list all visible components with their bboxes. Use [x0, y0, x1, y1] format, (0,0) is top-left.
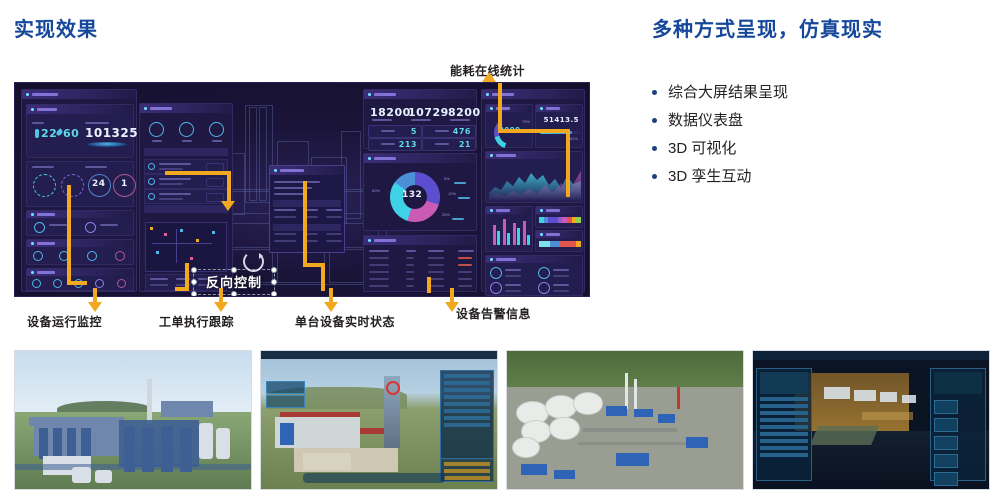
- resize-handle-n[interactable]: [231, 267, 237, 273]
- hud-dock-bar[interactable]: [303, 473, 445, 483]
- panel-title-bar: [140, 104, 232, 113]
- callout-arrow-head-3: [324, 302, 338, 312]
- list-item-label: 数据仪表盘: [668, 113, 743, 128]
- list-item-label: 综合大屏结果呈现: [668, 85, 788, 100]
- connector-v-1: [227, 171, 231, 203]
- section-header: [144, 205, 228, 213]
- panel-total-energy: 51413.5 81%: [535, 104, 583, 148]
- connector-h-5: [498, 129, 570, 133]
- donut-slice-label-1: 5%: [444, 176, 450, 181]
- hud-panel-right-bottom: [440, 458, 494, 482]
- resize-handle-s[interactable]: [231, 291, 237, 297]
- list-item: 综合大屏结果呈现: [652, 78, 992, 106]
- panel-title-bar: [22, 90, 136, 99]
- thermometer-icon: [35, 129, 39, 138]
- resize-handle-sw[interactable]: [191, 291, 197, 297]
- panel-title-bar: [364, 236, 476, 245]
- callout-label-2: 工单执行跟踪: [159, 313, 234, 330]
- callout-label-3: 单台设备实时状态: [295, 313, 395, 330]
- hud-panel-right: [440, 370, 494, 458]
- metric-humidity: 60: [63, 127, 79, 140]
- bullet-dot-icon: [652, 90, 657, 95]
- metric-pressure: 101325: [85, 126, 138, 140]
- connector-v-6: [427, 277, 431, 293]
- selected-text-box[interactable]: 反向控制: [193, 269, 275, 295]
- feature-list: 综合大屏结果呈现 数据仪表盘 3D 可视化 3D 孪生互动: [652, 78, 992, 190]
- callout-arrow-head-2: [214, 302, 228, 312]
- heatmap-strip: [539, 217, 581, 223]
- list-item-label: 3D 孪生互动: [668, 169, 751, 184]
- resize-handle-ne[interactable]: [271, 267, 277, 273]
- slide-root: 实现效果 多种方式呈现，仿真现实 综合大屏结果呈现 数据仪表盘 3D 可视化 3…: [0, 0, 1000, 498]
- gauge-percent-left: 75%: [522, 119, 530, 124]
- list-item[interactable]: [144, 189, 228, 204]
- panel-title-bar: [486, 207, 532, 214]
- panel-safety-devices: [26, 239, 134, 265]
- resize-handle-nw[interactable]: [191, 267, 197, 273]
- panel-title-bar: [364, 90, 476, 99]
- donut-center-value: 132: [402, 190, 422, 200]
- metric-temperature: 22: [41, 127, 57, 140]
- connector-v-2: [67, 185, 71, 285]
- metric-count-b: 1: [121, 179, 128, 189]
- heatmap-strip: [539, 241, 581, 247]
- panel-title-bar: [536, 105, 582, 112]
- panel-bar-chart: [485, 206, 533, 252]
- panel-title-bar: [536, 207, 582, 214]
- card-icon-b[interactable]: [179, 122, 194, 137]
- connector-v-4: [303, 181, 307, 267]
- gallery-image-refinery-aerial[interactable]: [506, 350, 744, 490]
- panel-gauge: 3000 75%: [485, 104, 533, 148]
- panel-alarm-table: [363, 235, 477, 292]
- panel-env-devices: [26, 210, 134, 236]
- list-item-label: 3D 可视化: [668, 141, 736, 156]
- panel-title-bar: [27, 240, 133, 247]
- panel-title-bar: [536, 231, 582, 238]
- sub-stat-2: 476: [422, 125, 476, 138]
- panel-title-bar: [364, 154, 476, 163]
- total-energy-value: 51413.5: [544, 116, 579, 124]
- panel-device-detail: [269, 165, 345, 253]
- gallery-image-digital-twin-hud[interactable]: [260, 350, 498, 490]
- panel-title-bar: [27, 211, 133, 218]
- card-icon-a[interactable]: [149, 122, 164, 137]
- sub-stat-1: 5: [368, 125, 422, 138]
- connector-v-5: [321, 263, 325, 291]
- hud-panel-right: [930, 368, 986, 481]
- panel-title-bar: [486, 256, 582, 263]
- panel-energy-devices: [26, 268, 134, 291]
- page-title-left: 实现效果: [14, 13, 98, 42]
- connector-v-8: [566, 129, 570, 197]
- panel-device-status: 24 1: [26, 161, 134, 207]
- panel-title-bar: [270, 166, 344, 175]
- section-header: [144, 148, 228, 156]
- panel-overview-stats: 18200 10729 8200 5 476 213 21: [363, 89, 477, 149]
- connector-h-1: [165, 171, 231, 175]
- kpi-value-3: 8200: [448, 106, 481, 119]
- callout-arrow-head-1: [88, 302, 102, 312]
- callout-arrow-head-up: [482, 72, 496, 82]
- list-item[interactable]: [144, 174, 228, 189]
- bullet-dot-icon: [652, 174, 657, 179]
- selected-text-label: 反向控制: [206, 275, 262, 290]
- list-item: 3D 可视化: [652, 134, 992, 162]
- panel-env-realtime: 22 60 101325: [26, 104, 134, 158]
- sub-stat-4: 21: [422, 138, 476, 151]
- panel-heat-bar-a: [535, 206, 583, 228]
- panel-title-bar: [486, 105, 532, 112]
- panel-device-list: [485, 255, 583, 296]
- list-item: 3D 孪生互动: [652, 162, 992, 190]
- donut-slice-label-3: 25%: [442, 212, 450, 217]
- bullet-dot-icon: [652, 146, 657, 151]
- screenshot-gallery: [14, 350, 990, 490]
- page-title-right: 多种方式呈现，仿真现实: [652, 13, 883, 42]
- connector-v-7: [498, 83, 502, 133]
- dashboard-screenshot: 22 60 101325 24 1: [14, 82, 590, 297]
- list-item: 数据仪表盘: [652, 106, 992, 134]
- callout-label-4: 设备告警信息: [456, 305, 531, 322]
- kpi-value-1: 18200: [370, 106, 411, 119]
- status-ring-a: [33, 174, 56, 197]
- donut-slice-label-4: 60%: [372, 188, 380, 193]
- connector-h-3: [175, 287, 189, 291]
- resize-handle-e[interactable]: [271, 279, 277, 285]
- callout-label-1: 设备运行监控: [27, 313, 102, 330]
- status-ring-b: [61, 174, 84, 197]
- panel-title-bar: [27, 269, 133, 276]
- connector-arrow-1: [221, 201, 235, 211]
- hud-panel-left: [756, 368, 812, 481]
- panel-alarm-donut: 132 5% 10% 25% 60%: [363, 153, 477, 231]
- panel-title-bar: [27, 105, 133, 114]
- kpi-value-2: 10729: [408, 106, 449, 119]
- panel-device-monitor: 22 60 101325 24 1: [21, 89, 137, 292]
- bullet-dot-icon: [652, 118, 657, 123]
- resize-handle-w[interactable]: [191, 279, 197, 285]
- card-icon-c[interactable]: [209, 122, 224, 137]
- metric-count-a: 24: [92, 179, 106, 189]
- sub-stat-3: 213: [368, 138, 422, 151]
- progress-percent: 81%: [570, 136, 578, 141]
- gallery-image-plant-3d-daylight[interactable]: [14, 350, 252, 490]
- gallery-image-indoor-twin-night[interactable]: [752, 350, 990, 490]
- connector-h-2: [67, 281, 87, 285]
- donut-slice-label-2: 10%: [448, 191, 456, 196]
- panel-heat-bar-b: [535, 230, 583, 252]
- resize-handle-se[interactable]: [271, 291, 277, 297]
